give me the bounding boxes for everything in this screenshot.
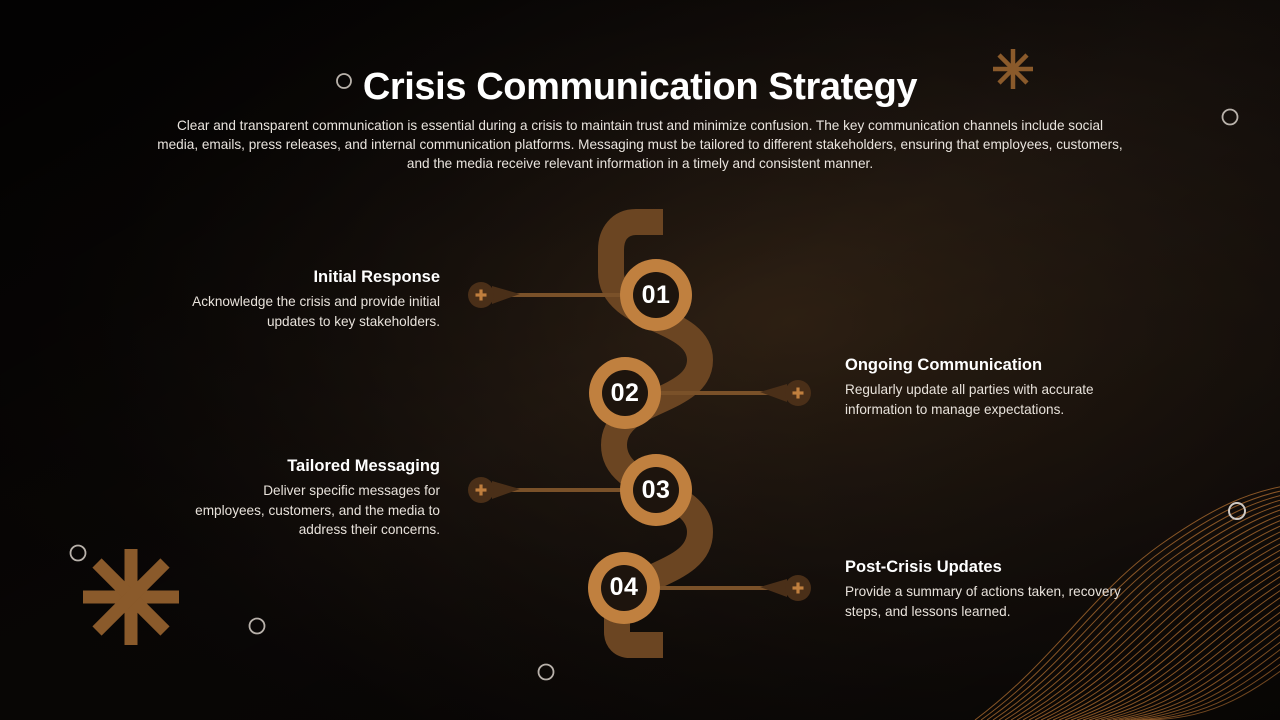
step-block-1: Initial Response Acknowledge the crisis … <box>170 266 440 331</box>
step-number-2: 02 <box>590 379 660 408</box>
step-description-1: Acknowledge the crisis and provide initi… <box>170 292 440 331</box>
step-title-3: Tailored Messaging <box>190 455 440 477</box>
page-title: Crisis Communication Strategy <box>0 66 1280 109</box>
page-subtitle: Clear and transparent communication is e… <box>155 116 1125 173</box>
step-block-2: Ongoing Communication Regularly update a… <box>845 354 1135 419</box>
step-title-1: Initial Response <box>170 266 440 288</box>
step-number-1: 01 <box>621 281 691 310</box>
step-title-2: Ongoing Communication <box>845 354 1135 376</box>
step-title-4: Post-Crisis Updates <box>845 556 1135 578</box>
step-block-3: Tailored Messaging Deliver specific mess… <box>190 455 440 540</box>
slide-canvas: Crisis Communication Strategy Clear and … <box>0 0 1280 720</box>
step-description-4: Provide a summary of actions taken, reco… <box>845 582 1135 621</box>
step-number-3: 03 <box>621 476 691 505</box>
step-block-4: Post-Crisis Updates Provide a summary of… <box>845 556 1135 621</box>
step-description-3: Deliver specific messages for employees,… <box>190 481 440 540</box>
step-description-2: Regularly update all parties with accura… <box>845 380 1135 419</box>
step-number-4: 04 <box>589 573 659 602</box>
